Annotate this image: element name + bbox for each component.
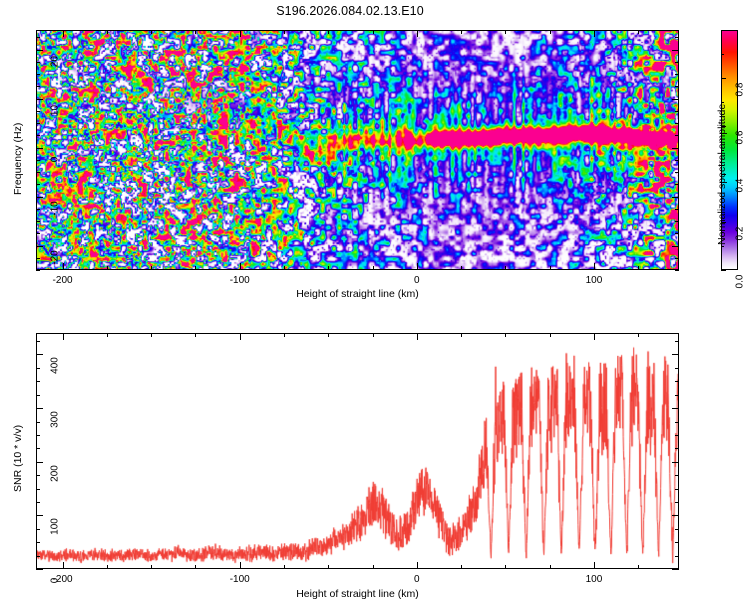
x-minor-tick (638, 333, 639, 337)
y-major-tick (672, 246, 679, 247)
colorbar-tick-label: 0.4 (735, 173, 746, 199)
y-tick-label: 20 (50, 48, 61, 74)
y-tick-label: 0 (50, 146, 61, 172)
x-tick-label: 100 (569, 574, 619, 585)
x-minor-tick (461, 565, 462, 569)
x-minor-tick (550, 333, 551, 337)
y-minor-tick (36, 111, 40, 112)
x-tick-label: -100 (215, 574, 265, 585)
x-minor-tick (638, 565, 639, 569)
y-minor-tick (36, 529, 40, 530)
spectrogram-panel (36, 30, 679, 270)
snr-canvas (37, 334, 678, 568)
x-minor-tick (195, 333, 196, 337)
y-minor-tick (675, 270, 679, 271)
y-major-tick (36, 99, 43, 100)
y-tick-label: 300 (50, 407, 61, 433)
x-major-tick (63, 333, 64, 340)
y-minor-tick (36, 258, 40, 259)
x-minor-tick (284, 565, 285, 569)
y-minor-tick (675, 258, 679, 259)
x-minor-tick (328, 565, 329, 569)
y-major-tick (36, 246, 43, 247)
y-major-tick (672, 50, 679, 51)
x-tick-label: -200 (38, 275, 88, 286)
x-major-tick (63, 562, 64, 569)
spectrogram-xlabel: Height of straight line (km) (36, 288, 679, 300)
x-minor-tick (638, 30, 639, 34)
y-minor-tick (36, 341, 40, 342)
y-tick-label: 200 (50, 460, 61, 486)
y-major-tick (36, 515, 43, 516)
y-minor-tick (675, 233, 679, 234)
x-minor-tick (284, 266, 285, 270)
x-major-tick (417, 30, 418, 37)
x-major-tick (594, 562, 595, 569)
colorbar-label: Normalized spectral amplitude (716, 104, 728, 245)
y-minor-tick (675, 435, 679, 436)
x-minor-tick (373, 266, 374, 270)
y-minor-tick (36, 160, 40, 161)
x-minor-tick (284, 333, 285, 337)
y-minor-tick (675, 502, 679, 503)
y-minor-tick (675, 395, 679, 396)
x-minor-tick (151, 565, 152, 569)
colorbar-minor-tick (721, 270, 724, 271)
y-major-tick (36, 148, 43, 149)
y-minor-tick (675, 221, 679, 222)
x-minor-tick (151, 30, 152, 34)
x-major-tick (594, 30, 595, 37)
x-major-tick (240, 562, 241, 569)
y-minor-tick (675, 489, 679, 490)
y-major-tick (36, 354, 43, 355)
y-minor-tick (675, 542, 679, 543)
y-major-tick (672, 462, 679, 463)
x-minor-tick (505, 565, 506, 569)
y-major-tick (36, 197, 43, 198)
y-minor-tick (675, 529, 679, 530)
y-tick-label: -20 (50, 244, 61, 270)
y-minor-tick (36, 221, 40, 222)
x-minor-tick (373, 565, 374, 569)
y-major-tick (672, 569, 679, 570)
y-minor-tick (675, 37, 679, 38)
x-major-tick (240, 263, 241, 270)
y-major-tick (672, 99, 679, 100)
y-minor-tick (675, 172, 679, 173)
y-minor-tick (36, 172, 40, 173)
x-minor-tick (328, 333, 329, 337)
snr-panel (36, 333, 679, 569)
x-minor-tick (505, 333, 506, 337)
y-minor-tick (36, 270, 40, 271)
x-minor-tick (107, 565, 108, 569)
x-minor-tick (195, 565, 196, 569)
y-minor-tick (36, 435, 40, 436)
x-minor-tick (550, 565, 551, 569)
y-minor-tick (36, 556, 40, 557)
y-minor-tick (675, 556, 679, 557)
figure-root: S196.2026.084.02.13.E10 -200-10001002010… (0, 0, 750, 600)
y-minor-tick (675, 381, 679, 382)
y-minor-tick (36, 184, 40, 185)
spectrogram-ylabel: Frequency (Hz) (12, 123, 24, 195)
y-minor-tick (675, 422, 679, 423)
snr-ylabel: SNR (10 * v/v) (12, 425, 24, 492)
y-minor-tick (36, 209, 40, 210)
y-major-tick (672, 354, 679, 355)
y-minor-tick (675, 184, 679, 185)
x-minor-tick (461, 30, 462, 34)
y-minor-tick (36, 542, 40, 543)
y-minor-tick (36, 233, 40, 234)
y-tick-label: -10 (50, 195, 61, 221)
x-tick-label: 0 (392, 275, 442, 286)
x-major-tick (63, 263, 64, 270)
x-minor-tick (373, 30, 374, 34)
x-minor-tick (328, 266, 329, 270)
colorbar-tick-label: 0.8 (735, 77, 746, 103)
y-major-tick (672, 197, 679, 198)
y-minor-tick (36, 502, 40, 503)
y-minor-tick (675, 448, 679, 449)
y-minor-tick (36, 74, 40, 75)
x-minor-tick (505, 266, 506, 270)
x-minor-tick (151, 333, 152, 337)
y-minor-tick (36, 422, 40, 423)
y-minor-tick (36, 123, 40, 124)
x-major-tick (417, 333, 418, 340)
x-major-tick (594, 263, 595, 270)
x-minor-tick (195, 30, 196, 34)
x-major-tick (240, 333, 241, 340)
x-tick-label: -200 (38, 574, 88, 585)
y-minor-tick (36, 475, 40, 476)
y-minor-tick (36, 37, 40, 38)
colorbar-minor-tick (721, 30, 724, 31)
y-minor-tick (675, 135, 679, 136)
y-minor-tick (675, 74, 679, 75)
y-major-tick (672, 408, 679, 409)
x-minor-tick (107, 333, 108, 337)
y-major-tick (672, 515, 679, 516)
x-minor-tick (328, 30, 329, 34)
x-major-tick (417, 263, 418, 270)
y-minor-tick (675, 475, 679, 476)
y-minor-tick (36, 86, 40, 87)
x-minor-tick (151, 266, 152, 270)
x-minor-tick (550, 30, 551, 34)
y-tick-label: 100 (50, 514, 61, 540)
y-minor-tick (675, 341, 679, 342)
x-major-tick (594, 333, 595, 340)
x-minor-tick (107, 30, 108, 34)
x-minor-tick (461, 333, 462, 337)
x-major-tick (417, 562, 418, 569)
y-minor-tick (36, 381, 40, 382)
x-tick-label: -100 (215, 275, 265, 286)
y-minor-tick (36, 395, 40, 396)
y-minor-tick (675, 368, 679, 369)
x-minor-tick (550, 266, 551, 270)
y-minor-tick (36, 135, 40, 136)
y-minor-tick (675, 209, 679, 210)
x-tick-label: 100 (569, 275, 619, 286)
colorbar-minor-tick (721, 54, 724, 55)
y-minor-tick (36, 489, 40, 490)
y-minor-tick (675, 123, 679, 124)
colorbar-minor-tick (721, 78, 724, 79)
figure-title: S196.2026.084.02.13.E10 (0, 4, 700, 18)
y-tick-label: 10 (50, 97, 61, 123)
y-major-tick (36, 462, 43, 463)
y-minor-tick (675, 62, 679, 63)
y-major-tick (36, 50, 43, 51)
x-minor-tick (195, 266, 196, 270)
y-major-tick (672, 148, 679, 149)
x-minor-tick (461, 266, 462, 270)
x-major-tick (63, 30, 64, 37)
y-tick-label: 400 (50, 353, 61, 379)
x-tick-label: 0 (392, 574, 442, 585)
x-minor-tick (373, 333, 374, 337)
colorbar-minor-tick (721, 246, 724, 247)
y-major-tick (36, 569, 43, 570)
x-minor-tick (505, 30, 506, 34)
y-minor-tick (675, 111, 679, 112)
x-major-tick (240, 30, 241, 37)
colorbar-tick-label: 0.0 (735, 269, 746, 295)
spectrogram-canvas (37, 31, 678, 269)
snr-xlabel: Height of straight line (km) (36, 588, 679, 600)
y-minor-tick (36, 448, 40, 449)
y-minor-tick (36, 368, 40, 369)
y-minor-tick (36, 62, 40, 63)
y-major-tick (36, 408, 43, 409)
colorbar-tick-label: 0.2 (735, 221, 746, 247)
y-minor-tick (675, 160, 679, 161)
y-minor-tick (675, 86, 679, 87)
x-minor-tick (638, 266, 639, 270)
colorbar-tick-label: 0.6 (735, 125, 746, 151)
x-minor-tick (107, 266, 108, 270)
x-minor-tick (284, 30, 285, 34)
